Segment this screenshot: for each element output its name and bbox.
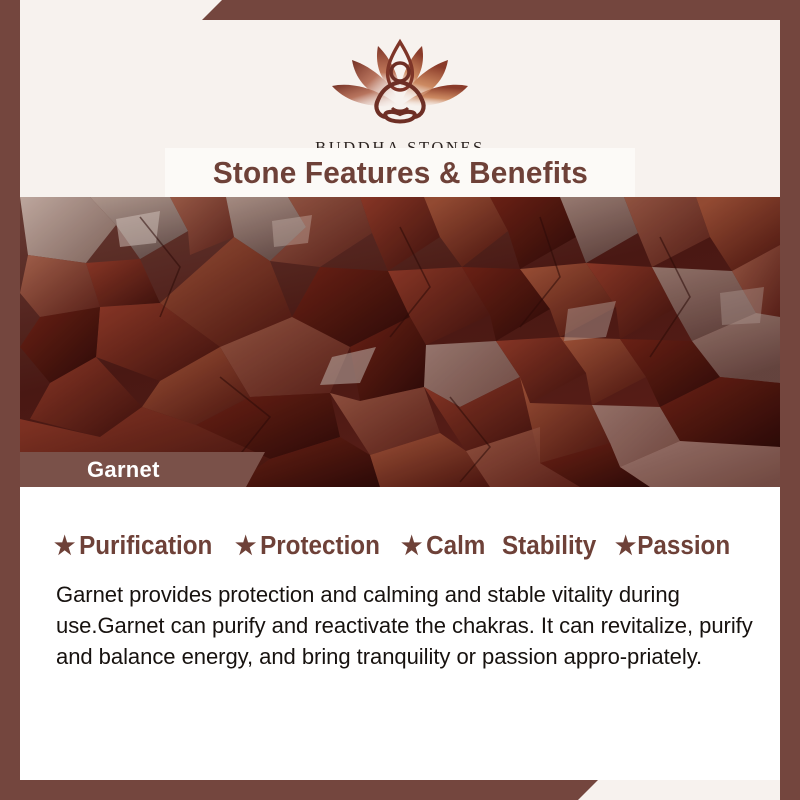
benefit-label: Purification [79,532,212,561]
benefit-item-protection: ★ Protection [235,532,380,561]
page-title-band: Stone Features & Benefits [165,148,635,197]
benefit-item-purification: ★ Purification [54,532,212,561]
content-card: BUDDHA STONES Stone Features & Benefits [20,20,780,780]
poster-root: BUDDHA STONES Stone Features & Benefits [0,0,800,800]
brand-logo: BUDDHA STONES [20,32,780,158]
body-section: ★ Purification ★ Protection ★ Calm Stabi… [20,487,780,780]
benefits-list: ★ Purification ★ Protection ★ Calm Stabi… [54,532,764,561]
benefit-item-calm: ★ Calm [401,532,485,561]
brand-header: BUDDHA STONES Stone Features & Benefits [20,20,780,197]
frame-right-bar [780,0,800,800]
lotus-meditation-figure-icon [312,32,488,136]
frame-bottom-bar [0,780,800,800]
star-icon: ★ [54,534,75,559]
page-title: Stone Features & Benefits [212,155,587,191]
benefit-label: Passion [637,532,730,561]
benefit-label: Protection [260,532,380,561]
star-icon: ★ [615,534,636,559]
stone-photo: Garnet [20,197,780,487]
stone-name: Garnet [87,457,160,483]
frame-left-bar [0,0,20,800]
frame-top-bar [0,0,800,20]
garnet-crystal-cluster-image [20,197,780,487]
benefit-item-passion: ★ Passion [615,532,730,561]
benefit-label: Stability [502,532,596,561]
stone-description: Garnet provides protection and calming a… [56,579,754,672]
benefit-label: Calm [426,532,485,561]
star-icon: ★ [401,534,422,559]
stone-name-banner: Garnet [20,452,265,487]
star-icon: ★ [235,534,256,559]
benefit-item-stability: Stability [502,532,596,561]
